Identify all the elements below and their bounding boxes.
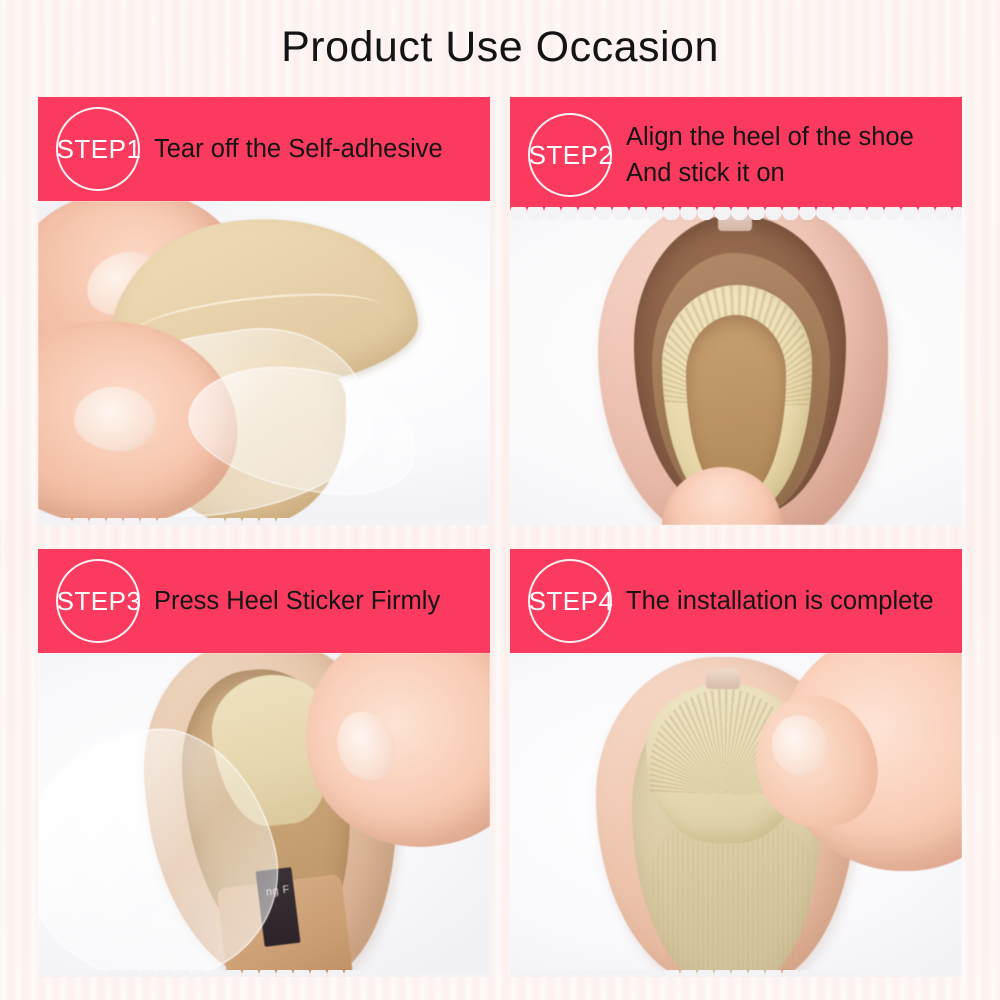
step-panel-2[interactable]: STEP2 Align the heel of the shoe And sti… xyxy=(510,97,962,525)
step-text-1: Tear off the Self-adhesive xyxy=(148,131,453,167)
step-text-line1-4: The installation is complete xyxy=(626,587,934,615)
step-badge-label-3: STEP3 xyxy=(57,586,142,617)
step-banner-2: STEP2 Align the heel of the shoe And sti… xyxy=(510,97,962,213)
step-banner-4: STEP4 The installation is complete xyxy=(510,549,962,653)
shoe-zip-4 xyxy=(706,669,740,689)
step-badge-label-2: STEP2 xyxy=(529,140,614,171)
step-text-line1-1: Tear off the Self-adhesive xyxy=(154,135,443,163)
step-badge-4: STEP4 xyxy=(528,559,612,643)
step-badge-label-1: STEP1 xyxy=(57,134,142,165)
steps-grid: STEP1 Tear off the Self-adhesive xyxy=(38,97,962,977)
step-badge-1: STEP1 xyxy=(56,107,140,191)
step-banner-3: STEP3 Press Heel Sticker Firmly xyxy=(38,549,490,653)
step-panel-4[interactable]: STEP4 The installation is complete xyxy=(510,549,962,977)
page-title: Product Use Occasion xyxy=(281,23,719,72)
step-text-line2-2: And stick it on xyxy=(626,155,914,191)
step-photo-2 xyxy=(510,213,962,525)
step-photo-4 xyxy=(510,653,962,977)
step-badge-2: STEP2 xyxy=(528,113,612,197)
step-photo-1 xyxy=(38,201,490,525)
step-text-4: The installation is complete xyxy=(620,583,944,619)
step-text-3: Press Heel Sticker Firmly xyxy=(148,583,450,619)
step-text-line1-3: Press Heel Sticker Firmly xyxy=(154,587,440,615)
step-panel-3[interactable]: STEP3 Press Heel Sticker Firmly xyxy=(38,549,490,977)
step-text-2: Align the heel of the shoe And stick it … xyxy=(620,119,924,191)
step-badge-3: STEP3 xyxy=(56,559,140,643)
product-use-occasion-infographic: Product Use Occasion STEP1 Tear off the … xyxy=(0,0,1000,1000)
step-photo-3: ng F xyxy=(38,653,490,977)
step-badge-label-4: STEP4 xyxy=(529,586,614,617)
step-banner-1: STEP1 Tear off the Self-adhesive xyxy=(38,97,490,201)
shoe-zip-2 xyxy=(718,213,752,231)
step-panel-1[interactable]: STEP1 Tear off the Self-adhesive xyxy=(38,97,490,525)
step-text-line1-2: Align the heel of the shoe xyxy=(626,123,914,151)
page-title-container: Product Use Occasion xyxy=(0,0,1000,95)
